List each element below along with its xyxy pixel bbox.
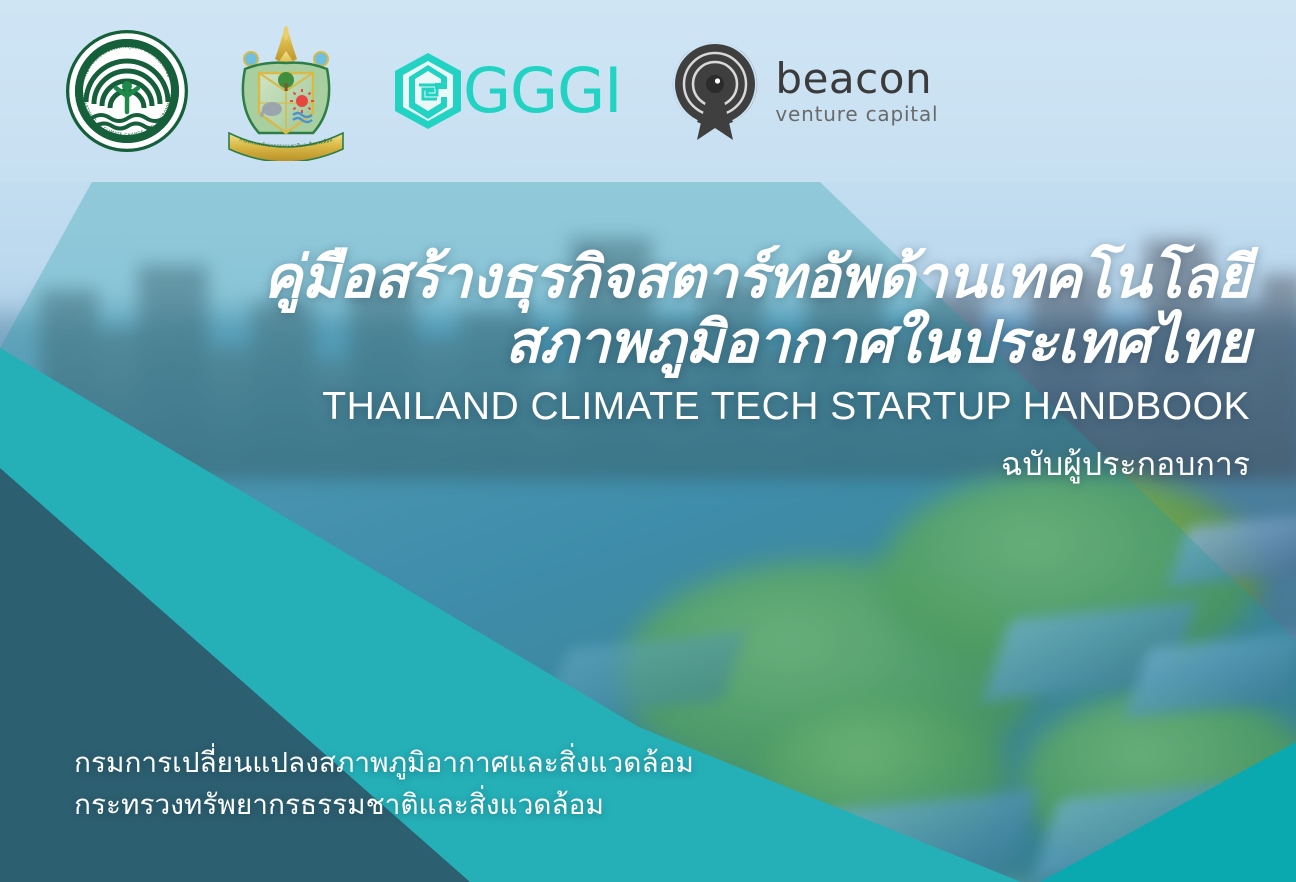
- gggi-cube-icon: [391, 51, 465, 131]
- beacon-mark-icon: [669, 40, 761, 142]
- mnre-royal-emblem-logo: กระทรวงทรัพยากรธรรมชาติและสิ่งแวดล้อม: [221, 21, 351, 161]
- beacon-wordmark: beacon: [775, 58, 938, 100]
- seal-artwork: กรมการเปลี่ยนแปลงสภาพภูมิอากาศและสิ่งแวด…: [66, 30, 188, 152]
- beacon-logo: beacon venture capital: [669, 40, 938, 142]
- beacon-wordmark-block: beacon venture capital: [775, 58, 938, 124]
- emblem-artwork: กระทรวงทรัพยากรธรรมชาติและสิ่งแวดล้อม: [221, 21, 351, 161]
- publisher-org-block: กรมการเปลี่ยนแปลงสภาพภูมิอากาศและสิ่งแวด…: [74, 742, 694, 826]
- dcce-seal-logo: กรมการเปลี่ยนแปลงสภาพภูมิอากาศและสิ่งแวด…: [66, 30, 188, 152]
- org-ministry: กระทรวงทรัพยากรธรรมชาติและสิ่งแวดล้อม: [74, 784, 694, 826]
- title-thai-line-2: สภาพภูมิอากาศในประเทศไทย: [0, 310, 1250, 375]
- subtitle-thai: ฉบับผู้ประกอบการ: [0, 439, 1250, 490]
- title-thai-line-1: คู่มือสร้างธุรกิจสตาร์ทอัพด้านเทคโนโลยี: [0, 245, 1250, 310]
- beacon-tagline: venture capital: [775, 104, 938, 124]
- gggi-wordmark: GGGI: [463, 60, 621, 122]
- org-department: กรมการเปลี่ยนแปลงสภาพภูมิอากาศและสิ่งแวด…: [74, 742, 694, 784]
- book-cover: กรมการเปลี่ยนแปลงสภาพภูมิอากาศและสิ่งแวด…: [0, 0, 1296, 882]
- logo-header-strip: กรมการเปลี่ยนแปลงสภาพภูมิอากาศและสิ่งแวด…: [0, 0, 1296, 182]
- gggi-logo: GGGI: [391, 51, 621, 131]
- title-block: คู่มือสร้างธุรกิจสตาร์ทอัพด้านเทคโนโลยี …: [0, 245, 1250, 490]
- title-english: THAILAND CLIMATE TECH STARTUP HANDBOOK: [0, 385, 1250, 429]
